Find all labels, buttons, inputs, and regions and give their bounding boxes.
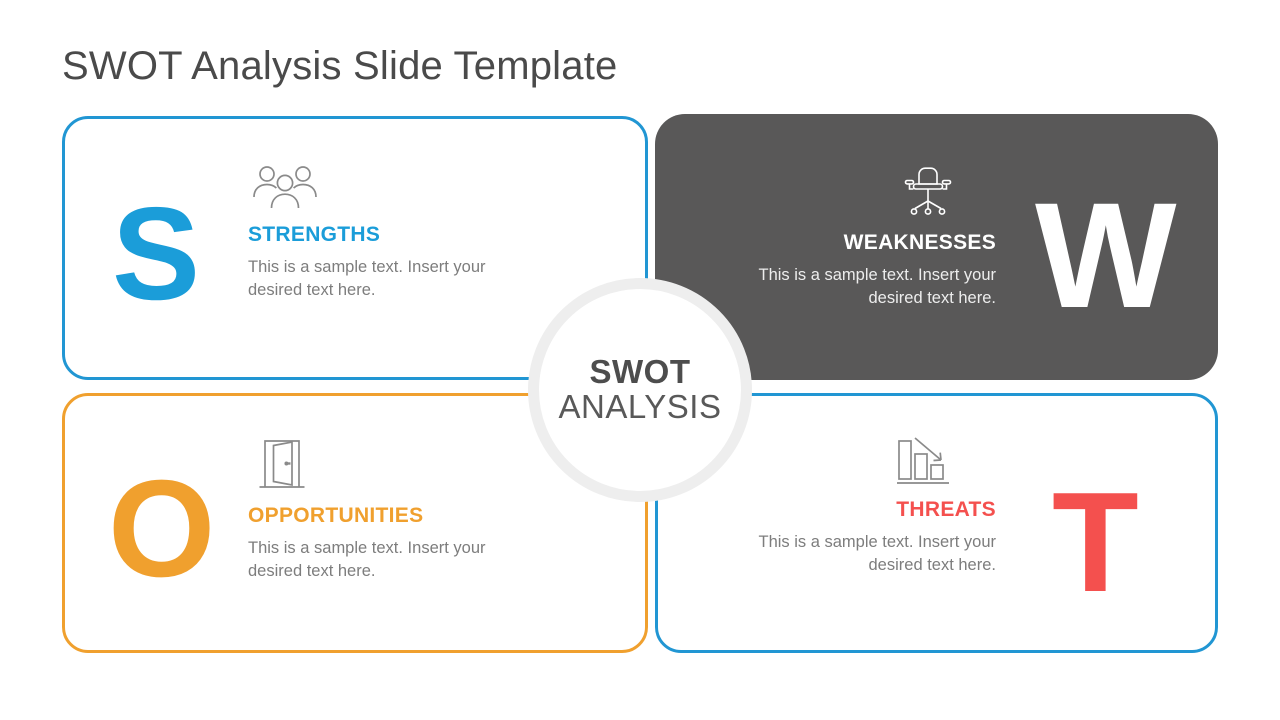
quadrant-heading-strengths: STRENGTHS [248,223,498,247]
swot-analysis-badge[interactable]: SWOT ANALYSIS [528,278,752,502]
people-group-icon [248,163,498,211]
quadrant-body-threats: This is a sample text. Insert your desir… [746,531,996,578]
quadrant-content-opportunities: OPPORTUNITIES This is a sample text. Ins… [248,436,498,584]
quadrant-letter-threats: T [1052,472,1139,614]
open-door-icon [248,436,498,492]
swot-slide: SWOT Analysis Slide Template S STRENGTHS… [0,0,1280,720]
quadrant-heading-opportunities: OPPORTUNITIES [248,504,498,528]
quadrant-letter-weaknesses: W [1035,180,1177,330]
quadrant-letter-strengths: S [112,188,200,320]
office-chair-icon [746,163,996,219]
quadrant-content-weaknesses: WEAKNESSES This is a sample text. Insert… [746,163,996,311]
quadrant-body-opportunities: This is a sample text. Insert your desir… [248,537,498,584]
quadrant-content-strengths: STRENGTHS This is a sample text. Insert … [248,163,498,303]
page-title: SWOT Analysis Slide Template [62,44,617,89]
badge-line-2: ANALYSIS [559,389,722,426]
declining-bar-chart-icon [746,436,996,486]
quadrant-letter-opportunities: O [108,460,215,598]
quadrant-body-strengths: This is a sample text. Insert your desir… [248,256,498,303]
quadrant-body-weaknesses: This is a sample text. Insert your desir… [746,264,996,311]
quadrant-heading-weaknesses: WEAKNESSES [746,231,996,255]
badge-line-1: SWOT [590,354,691,390]
quadrant-content-threats: THREATS This is a sample text. Insert yo… [746,436,996,578]
quadrant-heading-threats: THREATS [746,498,996,522]
